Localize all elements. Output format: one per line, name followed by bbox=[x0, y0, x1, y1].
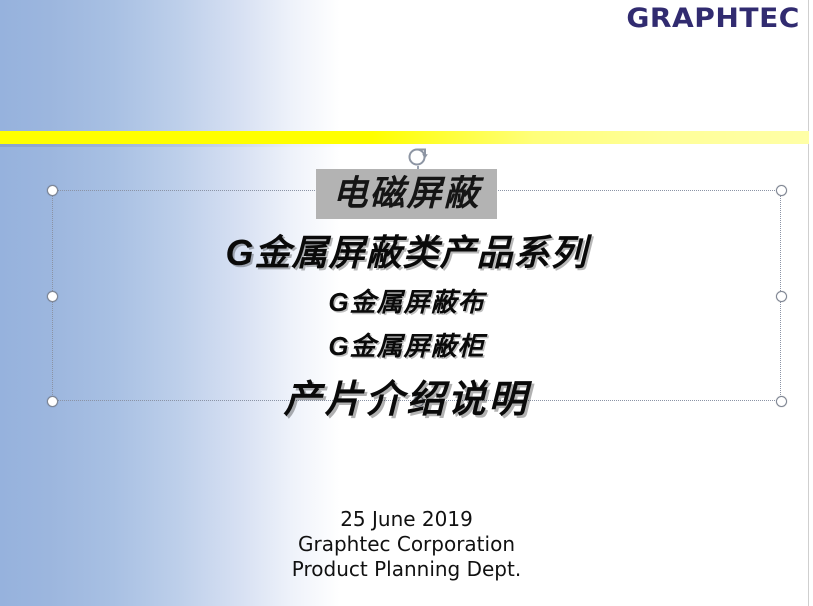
footer-department: Product Planning Dept. bbox=[0, 557, 813, 582]
highlighted-heading[interactable]: 电磁屏蔽 bbox=[0, 172, 813, 216]
slide-subtitle-fabric[interactable]: G金属屏蔽布 bbox=[0, 285, 813, 319]
slide-script-line[interactable]: 产片介绍说明 bbox=[0, 374, 813, 424]
presentation-slide: GRAPHTEC 电磁屏蔽 G金属屏蔽类产品系列 G金属屏蔽布 G金属屏蔽柜 产… bbox=[0, 0, 813, 606]
slide-subtitle-cabinet[interactable]: G金属屏蔽柜 bbox=[0, 329, 813, 363]
yellow-accent-bar-shadow bbox=[0, 144, 809, 147]
highlighted-heading-text: 电磁屏蔽 bbox=[316, 169, 496, 219]
footer-company: Graphtec Corporation bbox=[0, 532, 813, 557]
rotate-icon[interactable] bbox=[406, 145, 430, 169]
graphtec-logo: GRAPHTEC bbox=[626, 5, 800, 32]
slide-main-title[interactable]: G金属屏蔽类产品系列 bbox=[0, 230, 813, 276]
footer-date: 25 June 2019 bbox=[0, 507, 813, 532]
slide-footer: 25 June 2019 Graphtec Corporation Produc… bbox=[0, 507, 813, 582]
yellow-accent-bar bbox=[0, 131, 809, 144]
